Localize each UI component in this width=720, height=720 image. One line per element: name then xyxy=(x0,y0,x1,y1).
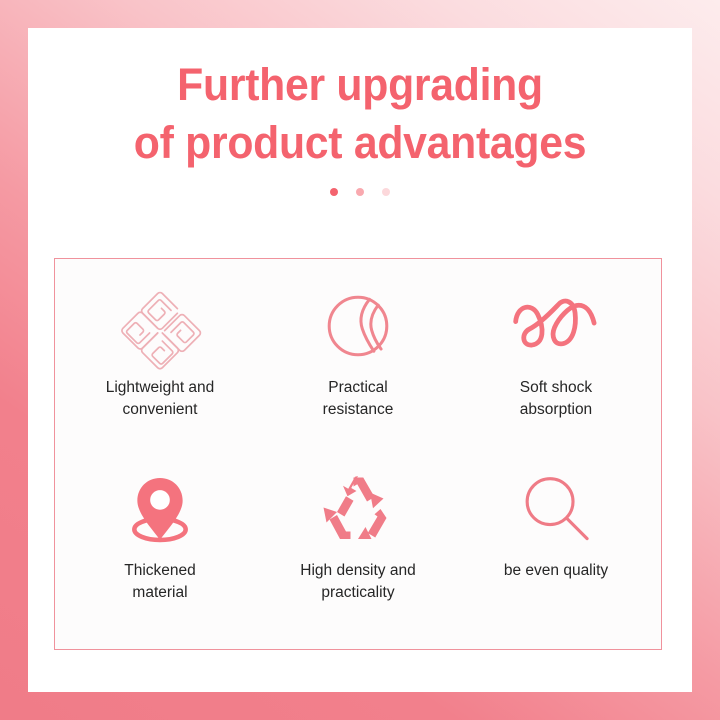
feature-label-line-2: practicality xyxy=(300,582,415,604)
feature-label-line-1: Soft shock xyxy=(520,377,592,399)
location-pin-icon xyxy=(114,470,206,548)
circle-leaf-lines-icon xyxy=(312,287,404,365)
feature-label: be even quality xyxy=(504,560,608,582)
pagination-dot-1[interactable] xyxy=(330,188,338,196)
page-title: Further upgrading of product advantages xyxy=(28,56,692,172)
white-content-card: Further upgrading of product advantages xyxy=(28,28,692,692)
feature-label-line-1: Practical xyxy=(323,377,394,399)
feature-label-line-2: convenient xyxy=(106,399,215,421)
feature-label-line-1: High density and xyxy=(300,560,415,582)
feature-grid: Lightweight and convenient Practi xyxy=(55,259,661,649)
feature-label: Thickened material xyxy=(124,560,196,604)
feature-label-line-1: Thickened xyxy=(124,560,196,582)
feature-item-thickened-material[interactable]: Thickened material xyxy=(61,456,259,639)
feature-frame: Lightweight and convenient Practi xyxy=(54,258,662,650)
spring-coil-wave-icon xyxy=(510,287,602,365)
quatrefoil-spiral-knot-icon xyxy=(114,287,206,365)
feature-label-line-2: material xyxy=(124,582,196,604)
feature-item-soft-shock-absorption[interactable]: Soft shock absorption xyxy=(457,273,655,456)
poster-root: Further upgrading of product advantages xyxy=(0,0,720,720)
feature-item-practical-resistance[interactable]: Practical resistance xyxy=(259,273,457,456)
magnifying-glass-icon xyxy=(510,470,602,548)
title-line-1: Further upgrading xyxy=(45,56,676,114)
feature-item-high-density[interactable]: High density and practicality xyxy=(259,456,457,639)
pagination-dots xyxy=(28,188,692,196)
title-line-2: of product advantages xyxy=(45,114,676,172)
feature-item-even-quality[interactable]: be even quality xyxy=(457,456,655,639)
feature-item-lightweight[interactable]: Lightweight and convenient xyxy=(61,273,259,456)
feature-label: Lightweight and convenient xyxy=(106,377,215,421)
feature-label-line-1: Lightweight and xyxy=(106,377,215,399)
feature-label-line-2: resistance xyxy=(323,399,394,421)
feature-label-line-1: be even quality xyxy=(504,560,608,582)
feature-label: High density and practicality xyxy=(300,560,415,604)
feature-label: Soft shock absorption xyxy=(520,377,592,421)
feature-label: Practical resistance xyxy=(323,377,394,421)
pagination-dot-2[interactable] xyxy=(356,188,364,196)
recycle-icon xyxy=(312,470,404,548)
feature-label-line-2: absorption xyxy=(520,399,592,421)
pagination-dot-3[interactable] xyxy=(382,188,390,196)
